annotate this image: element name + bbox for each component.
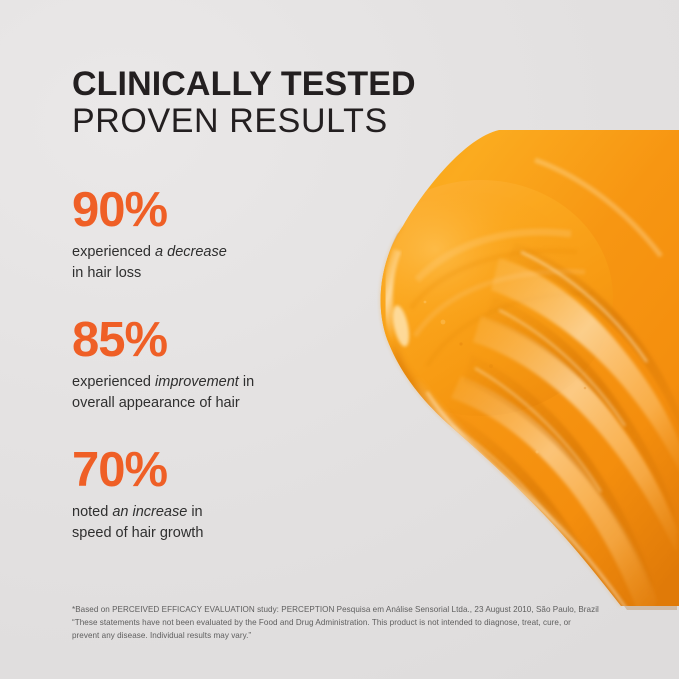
stat-desc-line2: in hair loss (72, 265, 141, 281)
headline-line-2: PROVEN RESULTS (72, 104, 416, 139)
stat-desc-before: experienced (72, 374, 155, 390)
stat-desc-line2: speed of hair growth (72, 525, 203, 541)
stat-description: noted an increase inspeed of hair growth (72, 502, 312, 543)
statistics-list: 90% experienced a decreasein hair loss 8… (72, 186, 312, 543)
product-swatch-image (285, 130, 679, 610)
stat-desc-emphasis: improvement (155, 374, 239, 390)
disclaimer-text: *Based on PERCEIVED EFFICACY EVALUATION … (72, 603, 642, 642)
stat-item: 85% experienced improvement inoverall ap… (72, 316, 312, 413)
disclaimer-line-3: prevent any disease. Individual results … (72, 629, 642, 642)
stat-desc-after: in (187, 504, 202, 520)
stat-description: experienced a decreasein hair loss (72, 242, 312, 283)
stat-desc-after: in (239, 374, 254, 390)
stat-value: 90% (72, 186, 312, 235)
stat-item: 70% noted an increase inspeed of hair gr… (72, 446, 312, 543)
headline-line-1: CLINICALLY TESTED (72, 67, 416, 102)
advertisement-canvas: CLINICALLY TESTED PROVEN RESULTS 90% exp… (0, 0, 679, 679)
stat-description: experienced improvement inoverall appear… (72, 372, 312, 413)
disclaimer-line-2: “These statements have not been evaluate… (72, 616, 642, 629)
stat-desc-before: experienced (72, 244, 155, 260)
stat-desc-emphasis: a decrease (155, 244, 227, 260)
page-title: CLINICALLY TESTED PROVEN RESULTS (72, 67, 416, 140)
disclaimer-line-1: *Based on PERCEIVED EFFICACY EVALUATION … (72, 603, 642, 616)
stat-desc-emphasis: an increase (112, 504, 187, 520)
stat-item: 90% experienced a decreasein hair loss (72, 186, 312, 283)
stat-desc-before: noted (72, 504, 112, 520)
stat-desc-line2: overall appearance of hair (72, 395, 240, 411)
stat-value: 70% (72, 446, 312, 495)
stat-value: 85% (72, 316, 312, 365)
